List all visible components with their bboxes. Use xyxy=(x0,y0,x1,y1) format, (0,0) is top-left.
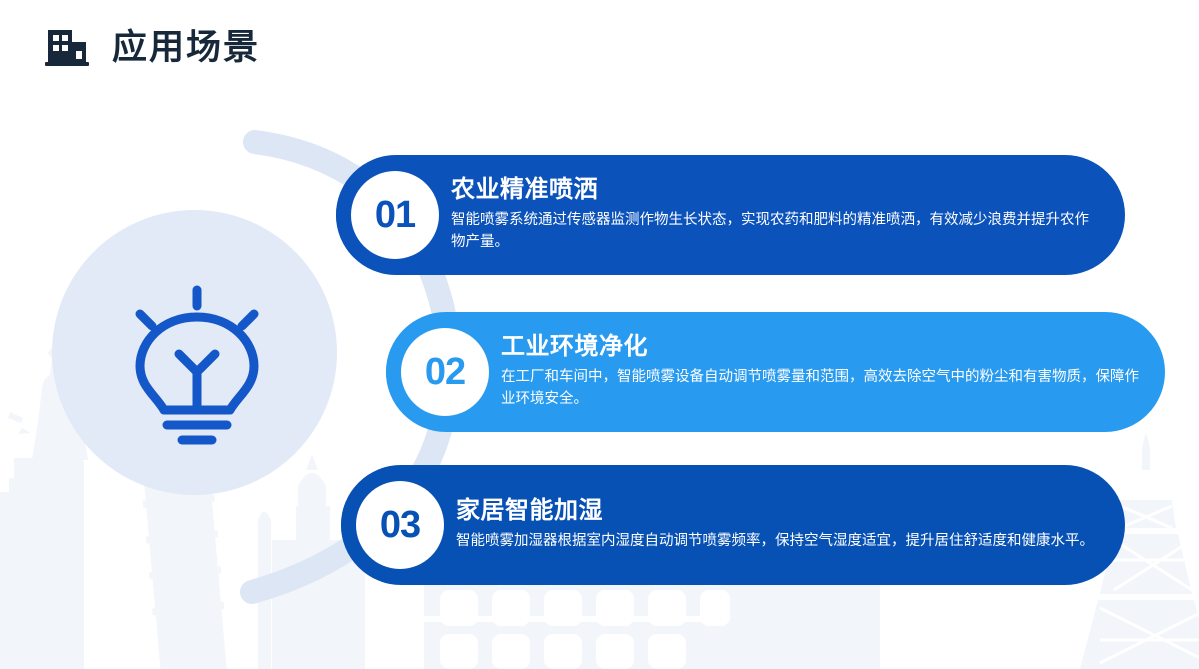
card-number-3: 03 xyxy=(380,506,420,544)
feature-card-1[interactable]: 01 农业精准喷洒 智能喷雾系统通过传感器监测作物生长状态，实现农药和肥料的精准… xyxy=(336,155,1125,275)
card-number-badge-2: 02 xyxy=(386,313,504,431)
taj-mahal-silhouette xyxy=(258,454,365,669)
card-body-3: 家居智能加湿 智能喷雾加湿器根据室内湿度自动调节喷雾频率，保持空气湿度适宜，提升… xyxy=(456,497,1116,552)
card-body-1: 农业精准喷洒 智能喷雾系统通过传感器监测作物生长状态，实现农药和肥料的精准喷洒，… xyxy=(451,176,1101,254)
building-icon xyxy=(44,24,90,70)
card-number-circle-1: 01 xyxy=(351,171,439,259)
card-description-1: 智能喷雾系统通过传感器监测作物生长状态，实现农药和肥料的精准喷洒，有效减少浪费并… xyxy=(451,209,1101,254)
card-number-2: 02 xyxy=(425,353,465,391)
card-description-2: 在工厂和车间中，智能喷雾设备自动调节喷雾量和范围，高效去除空气中的粉尘和有害物质… xyxy=(501,366,1151,411)
page-header: 应用场景 xyxy=(44,24,260,70)
page-title: 应用场景 xyxy=(112,30,260,65)
card-number-badge-3: 03 xyxy=(341,466,459,584)
feature-card-2[interactable]: 02 工业环境净化 在工厂和车间中，智能喷雾设备自动调节喷雾量和范围，高效去除空… xyxy=(386,312,1165,432)
card-number-circle-3: 03 xyxy=(356,481,444,569)
card-title-1: 农业精准喷洒 xyxy=(451,176,1101,205)
card-title-3: 家居智能加湿 xyxy=(456,497,1116,526)
lightbulb-icon xyxy=(112,262,282,452)
feature-card-3[interactable]: 03 家居智能加湿 智能喷雾加湿器根据室内湿度自动调节喷雾频率，保持空气湿度适宜… xyxy=(341,465,1125,585)
card-description-3: 智能喷雾加湿器根据室内湿度自动调节喷雾频率，保持空气湿度适宜，提升居住舒适度和健… xyxy=(456,530,1116,552)
card-number-1: 01 xyxy=(375,196,415,234)
card-number-badge-1: 01 xyxy=(336,156,454,274)
card-number-circle-2: 02 xyxy=(401,328,489,416)
card-title-2: 工业环境净化 xyxy=(501,333,1151,362)
slide-canvas: 应用场景 01 农业精准喷洒 智能喷雾系统通过传感器监测作物生长状态，实现农药和… xyxy=(0,0,1199,669)
card-body-2: 工业环境净化 在工厂和车间中，智能喷雾设备自动调节喷雾量和范围，高效去除空气中的… xyxy=(501,333,1151,411)
